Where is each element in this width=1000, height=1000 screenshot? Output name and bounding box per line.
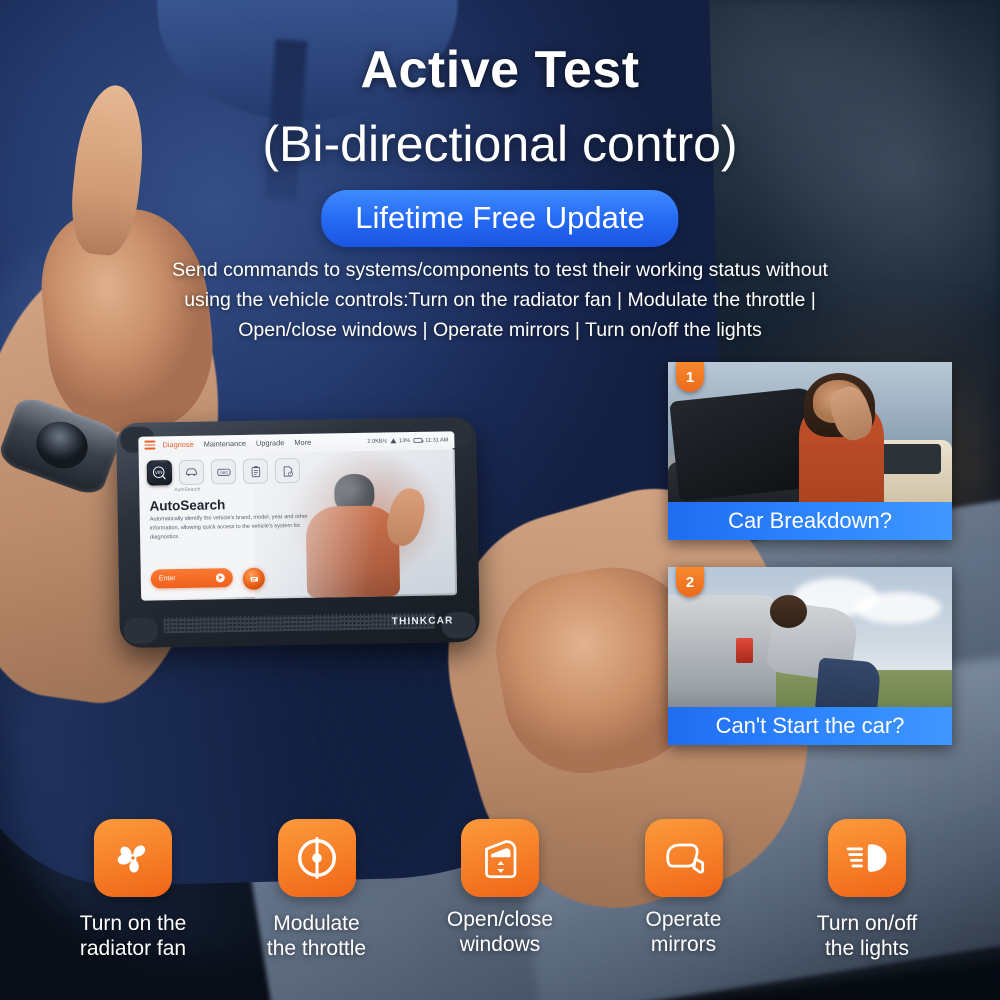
- feature-windows[interactable]: Open/close windows: [425, 819, 575, 962]
- card-car-breakdown[interactable]: 1 Car Breakdown?: [668, 362, 952, 540]
- car-window-icon: [476, 834, 524, 882]
- car-tile[interactable]: [179, 460, 204, 485]
- card-caption: Can't Start the car?: [668, 707, 952, 745]
- tablet-status-indicators: 2.0KB/s 13% 11:31 AM: [367, 437, 448, 444]
- tablet-corner-bumper: [123, 617, 157, 644]
- page-title: Active Test: [0, 44, 1000, 96]
- feature-label: Modulate the throttle: [267, 911, 366, 962]
- tab-maintenance[interactable]: Maintenance: [204, 439, 246, 449]
- feature-label: Turn on the radiator fan: [80, 911, 187, 962]
- card-number-badge: 2: [676, 567, 704, 597]
- network-speed-label: 2.0KB/s: [367, 438, 387, 444]
- clipboard-tile[interactable]: [243, 459, 268, 484]
- vin-icon: VIN: [151, 464, 168, 481]
- card-caption: Car Breakdown?: [668, 502, 952, 540]
- clipboard-icon: [248, 464, 262, 478]
- car-icon: [184, 465, 199, 480]
- chevron-right-icon: ➤: [216, 573, 225, 582]
- feature-icon-tile: [645, 819, 723, 897]
- page-description: Send commands to systems/components to t…: [160, 255, 840, 346]
- report-icon: [280, 464, 294, 478]
- battery-icon: [413, 438, 422, 443]
- battery-percent-label: 13%: [399, 438, 410, 444]
- clock-label: 11:31 AM: [425, 437, 448, 443]
- obd-icon: OBD: [215, 464, 231, 480]
- vin-tile[interactable]: VIN: [147, 460, 172, 485]
- tab-more[interactable]: More: [294, 438, 311, 447]
- card2-taillight: [736, 638, 753, 663]
- feature-list: Turn on the radiator fan Modulate the th…: [0, 819, 1000, 962]
- screen-content-description: Automatically identify the vehicle's bra…: [150, 513, 315, 543]
- card2-man-head: [770, 595, 807, 627]
- tablet-app-tile-row: VIN OBD: [147, 458, 300, 486]
- feature-mirrors[interactable]: Operate mirrors: [609, 819, 759, 962]
- feature-lights[interactable]: Turn on/off the lights: [792, 819, 942, 962]
- obd-tile[interactable]: OBD: [211, 459, 236, 484]
- feature-radiator-fan[interactable]: Turn on the radiator fan: [58, 819, 208, 962]
- feature-icon-tile: [278, 819, 356, 897]
- page-subtitle: (Bi-directional contro): [0, 118, 1000, 171]
- headlight-icon: [841, 832, 893, 884]
- feature-label: Operate mirrors: [646, 907, 722, 958]
- feature-label: Turn on/off the lights: [817, 911, 917, 962]
- svg-text:OBD: OBD: [219, 470, 228, 474]
- svg-text:VIN: VIN: [155, 470, 163, 475]
- tablet-brand-logo: THINKCAR: [392, 615, 454, 627]
- card-cant-start[interactable]: 2 Can't Start the car?: [668, 567, 952, 745]
- feature-icon-tile: [461, 819, 539, 897]
- tablet-screen[interactable]: Diagnose Maintenance Upgrade More 2.0KB/…: [138, 431, 457, 600]
- tab-upgrade[interactable]: Upgrade: [256, 438, 285, 447]
- tab-diagnose[interactable]: Diagnose: [162, 440, 193, 450]
- lifetime-update-badge: Lifetime Free Update: [321, 190, 678, 247]
- throttle-icon: [293, 834, 341, 882]
- app-tile-caption: AutoSearch: [174, 487, 200, 493]
- screen-content-title: AutoSearch: [149, 497, 225, 513]
- fan-icon: [108, 833, 158, 883]
- enter-button[interactable]: Enter ➤: [151, 568, 233, 588]
- device-icon: [248, 573, 259, 584]
- enter-button-label: Enter: [159, 575, 176, 582]
- card-number-badge: 1: [676, 362, 704, 392]
- diagnostic-tablet: Diagnose Maintenance Upgrade More 2.0KB/…: [116, 417, 480, 648]
- feature-label: Open/close windows: [447, 907, 553, 958]
- card2-cloud: [855, 592, 940, 624]
- hamburger-menu-icon[interactable]: [144, 441, 155, 450]
- feature-icon-tile: [828, 819, 906, 897]
- feature-throttle[interactable]: Modulate the throttle: [242, 819, 392, 962]
- feature-icon-tile: [94, 819, 172, 897]
- wifi-icon: [390, 438, 396, 443]
- report-tile[interactable]: [275, 458, 300, 483]
- side-mirror-icon: [658, 832, 710, 884]
